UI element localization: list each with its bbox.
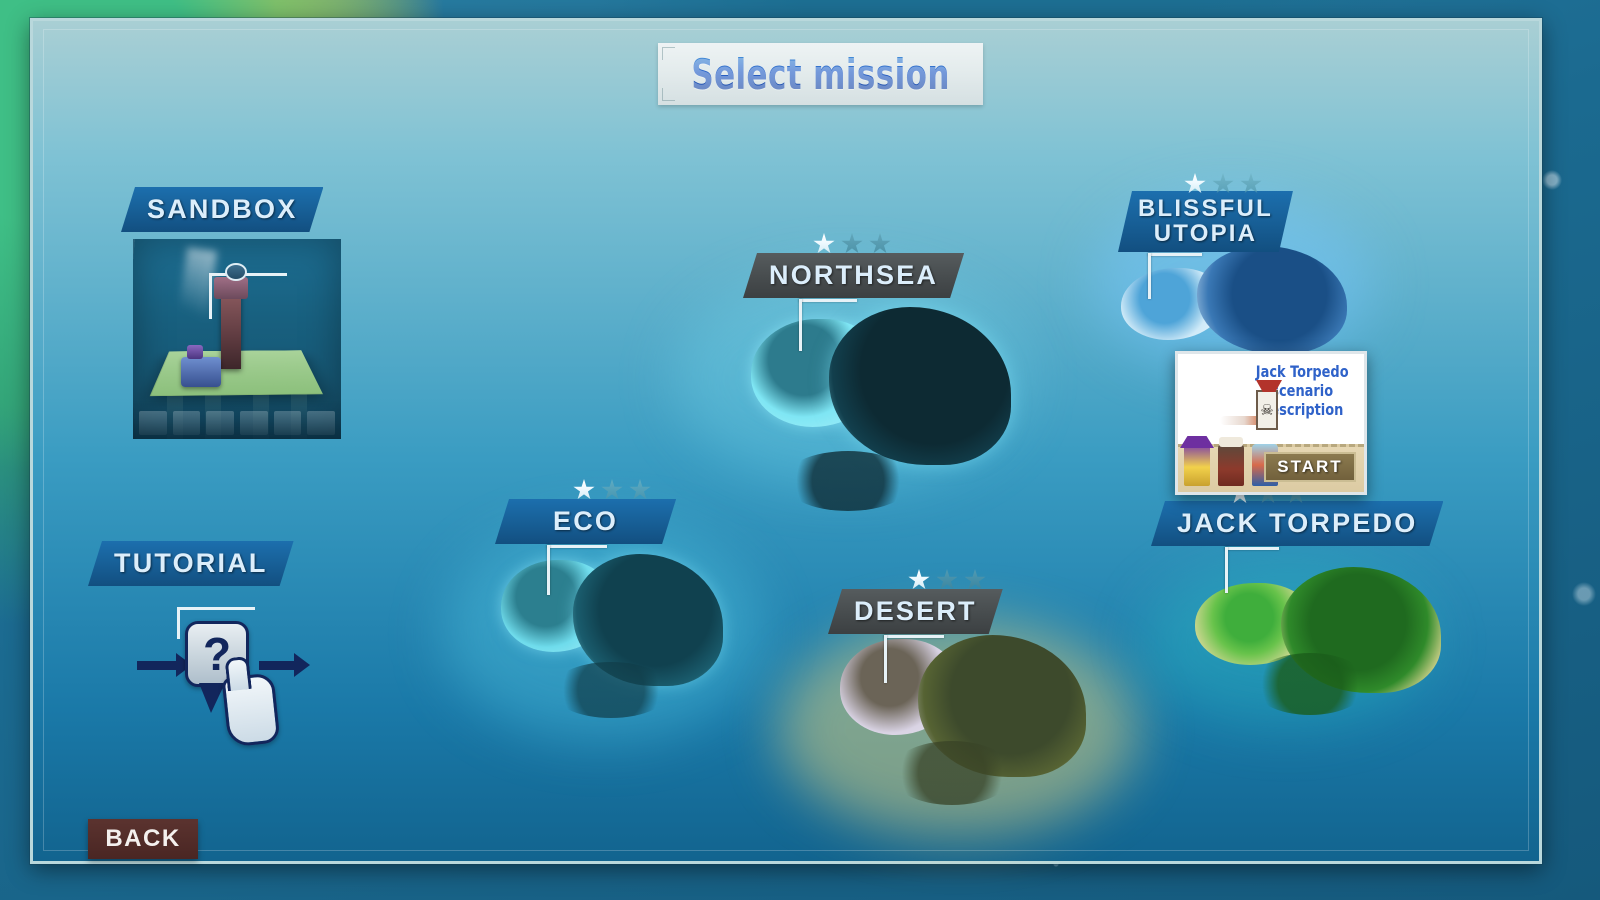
mission-northsea-banner[interactable]: NORTHSEA	[743, 253, 964, 298]
page-title: Select mission	[658, 43, 983, 105]
mission-northsea-leader	[799, 299, 859, 353]
star-filled	[1184, 173, 1206, 195]
rig-building	[181, 357, 221, 387]
start-button[interactable]: START	[1264, 452, 1356, 482]
star-empty	[841, 233, 863, 255]
speech-bubble-tail	[199, 683, 225, 713]
mission-jack-torpedo-leader	[1225, 547, 1281, 595]
star-filled	[908, 569, 930, 591]
pirate-character-2	[1218, 444, 1244, 486]
island-tail	[551, 662, 671, 718]
pointing-hand-cursor-icon	[221, 672, 280, 747]
star-empty	[1212, 173, 1234, 195]
mission-northsea[interactable]: NORTHSEA	[743, 253, 964, 298]
mission-blissful-utopia[interactable]: BLISSFUL UTOPIA	[1118, 191, 1293, 252]
mission-blissful-utopia-leader	[1148, 253, 1204, 301]
mission-jack-torpedo-label: JACK TORPEDO	[1177, 508, 1417, 538]
mission-desert-stars	[908, 569, 986, 591]
star-filled	[813, 233, 835, 255]
skull-flag-icon: ☠	[1256, 390, 1278, 430]
mission-sandbox-label: SANDBOX	[147, 194, 297, 224]
arrow-right-icon	[137, 661, 179, 670]
star-empty	[1240, 173, 1262, 195]
scenario-description-popup[interactable]: Jack Torpedo scenario description ☠ STAR…	[1175, 351, 1367, 495]
mission-eco-label: ECO	[553, 506, 618, 536]
mission-desert[interactable]: DESERT	[828, 589, 1003, 634]
star-empty	[601, 479, 623, 501]
star-empty	[936, 569, 958, 591]
mission-desert-banner[interactable]: DESERT	[828, 589, 1003, 634]
mission-blissful-utopia-stars	[1184, 173, 1262, 195]
island-tail	[783, 451, 913, 511]
popup-title-line2: scenario	[1271, 381, 1333, 400]
mission-sandbox-banner[interactable]: SANDBOX	[121, 187, 323, 232]
popup-title-line1: Jack Torpedo	[1256, 362, 1349, 381]
pirate-character-1	[1184, 444, 1210, 486]
mission-jack-torpedo-island[interactable]	[1133, 561, 1433, 731]
mission-eco-banner[interactable]: ECO	[495, 499, 676, 544]
mission-northsea-stars	[813, 233, 891, 255]
star-empty	[964, 569, 986, 591]
mission-tutorial[interactable]: TUTORIAL	[88, 541, 294, 586]
mission-select-dialog: Select mission SANDBOX TUT	[30, 18, 1542, 864]
mission-desert-island[interactable]	[768, 621, 1148, 846]
mission-jack-torpedo-banner[interactable]: JACK TORPEDO	[1151, 501, 1443, 546]
back-button[interactable]: BACK	[88, 819, 198, 859]
mission-jack-torpedo[interactable]: JACK TORPEDO	[1151, 501, 1443, 546]
mission-northsea-label: NORTHSEA	[769, 260, 938, 290]
island-tail	[890, 741, 1014, 805]
mission-desert-leader	[884, 635, 946, 685]
sandbox-leader-line	[209, 273, 287, 319]
mission-eco[interactable]: ECO	[495, 499, 676, 544]
sandbox-marker-icon	[225, 263, 247, 281]
mission-blissful-utopia-label-line2: UTOPIA	[1154, 220, 1257, 247]
tutorial-illustration[interactable]: ?	[133, 613, 313, 753]
star-empty	[869, 233, 891, 255]
mission-tutorial-label: TUTORIAL	[114, 548, 268, 578]
mission-sandbox[interactable]: SANDBOX	[121, 187, 323, 232]
arrow-right-icon	[259, 661, 297, 670]
game-background: Select mission SANDBOX TUT	[0, 0, 1600, 900]
mission-blissful-utopia-label-line1: BLISSFUL	[1138, 195, 1273, 222]
mission-tutorial-banner[interactable]: TUTORIAL	[88, 541, 294, 586]
island-tail	[1251, 653, 1369, 715]
star-filled	[573, 479, 595, 501]
page-title-text: Select mission	[691, 50, 949, 99]
mission-sandbox-preview[interactable]	[133, 239, 341, 439]
sandbox-hud-strip	[133, 401, 341, 439]
star-empty	[629, 479, 651, 501]
mission-desert-label: DESERT	[854, 596, 977, 626]
mission-eco-stars	[573, 479, 651, 501]
mission-blissful-utopia-banner[interactable]: BLISSFUL UTOPIA	[1118, 191, 1293, 252]
mission-eco-leader	[547, 545, 609, 597]
